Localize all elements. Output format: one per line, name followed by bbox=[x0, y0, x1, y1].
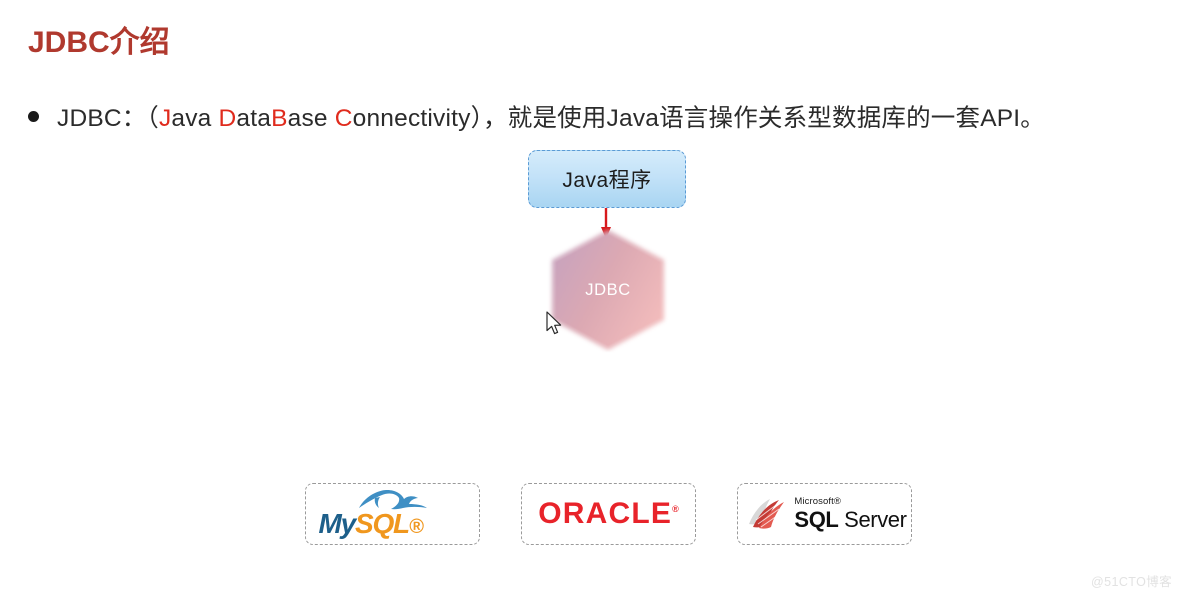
logo-card-sql-server: Microsoft® SQL Server bbox=[737, 483, 912, 545]
sql-server-microsoft-line: Microsoft® bbox=[794, 497, 906, 507]
mysql-wordmark-my: My bbox=[319, 508, 356, 539]
mysql-wordmark-sql: SQL bbox=[355, 508, 409, 539]
java-program-node: Java程序 bbox=[528, 150, 686, 208]
slide-canvas: JDBC介绍 JDBC：（Java DataBase Connectivity）… bbox=[0, 0, 1184, 599]
sql-server-logo: Microsoft® SQL Server bbox=[742, 494, 906, 534]
mysql-logo: MySQL® bbox=[313, 486, 473, 542]
watermark: @51CTO博客 bbox=[1091, 571, 1172, 590]
logo-card-oracle: ORACLE® bbox=[521, 483, 696, 545]
sql-server-flag-icon bbox=[746, 494, 788, 534]
mysql-wordmark-trademark: ® bbox=[409, 516, 423, 538]
hexagon-shape-icon bbox=[548, 228, 668, 352]
mouse-pointer-icon bbox=[546, 311, 564, 337]
sql-server-server-text: Server bbox=[838, 507, 906, 532]
java-program-label: Java程序 bbox=[562, 164, 651, 194]
page-title: JDBC介绍 bbox=[28, 17, 170, 61]
oracle-wordmark-text: ORACLE bbox=[538, 497, 672, 530]
oracle-trademark: ® bbox=[672, 504, 679, 514]
sql-server-sql-text: SQL bbox=[794, 507, 838, 532]
bullet-item-text: JDBC：（Java DataBase Connectivity），就是使用Ja… bbox=[57, 106, 1045, 133]
sql-server-text-block: Microsoft® SQL Server bbox=[794, 497, 906, 531]
oracle-logo: ORACLE® bbox=[538, 497, 679, 531]
bullet-dot-icon bbox=[28, 111, 39, 122]
logo-card-mysql: MySQL® bbox=[305, 483, 480, 545]
mysql-wordmark: MySQL® bbox=[319, 510, 469, 538]
jdbc-hexagon-node: JDBC bbox=[548, 228, 668, 352]
sql-server-product-line: SQL Server bbox=[794, 509, 906, 531]
bullet-list-item: JDBC：（Java DataBase Connectivity），就是使用Ja… bbox=[28, 106, 1045, 133]
